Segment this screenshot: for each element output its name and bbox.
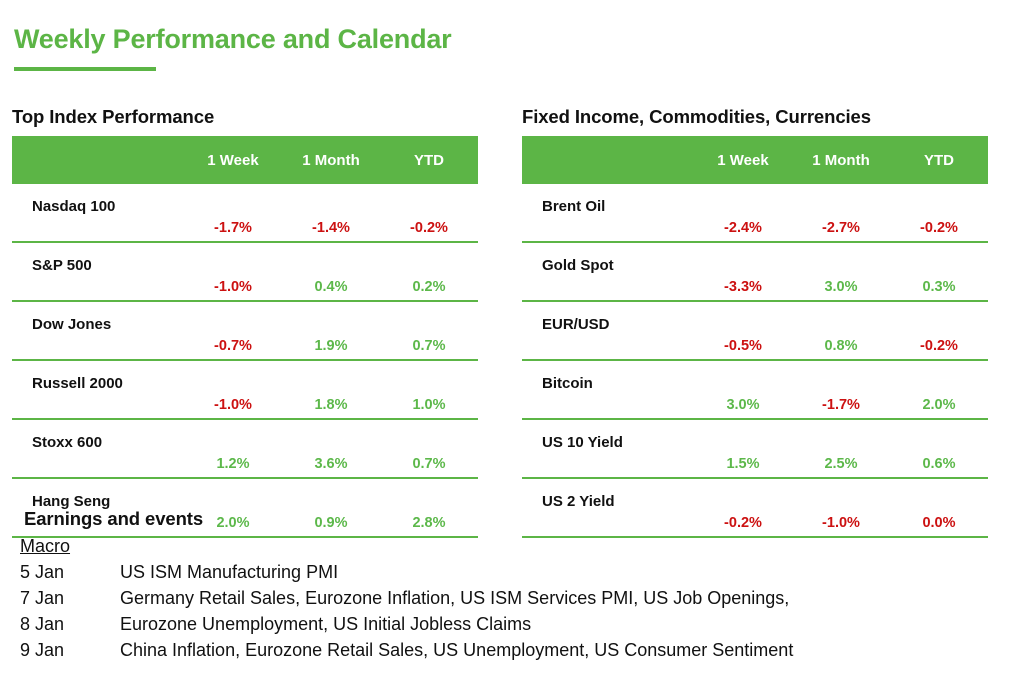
event-text: US ISM Manufacturing PMI (120, 559, 1000, 585)
table-row: Dow Jones -0.7% 1.9% 0.7% (12, 301, 478, 360)
cell-1-week: -3.3% (694, 242, 792, 301)
cell-1-month: 0.8% (792, 301, 890, 360)
title-underline-rule (14, 67, 156, 71)
cell-ytd: 1.0% (380, 360, 478, 419)
column-header-name (12, 136, 184, 184)
row-label: Russell 2000 (12, 360, 184, 419)
cell-1-month: -1.7% (792, 360, 890, 419)
cell-ytd: 0.7% (380, 419, 478, 478)
row-label: Nasdaq 100 (12, 184, 184, 242)
row-label: US 10 Yield (522, 419, 694, 478)
row-label: Bitcoin (522, 360, 694, 419)
event-text: China Inflation, Eurozone Retail Sales, … (120, 637, 1000, 663)
events-title: Earnings and events (24, 508, 1000, 530)
cell-ytd: -0.2% (890, 184, 988, 242)
event-row: 9 Jan China Inflation, Eurozone Retail S… (20, 637, 1000, 663)
event-row: 7 Jan Germany Retail Sales, Eurozone Inf… (20, 585, 1000, 611)
table-row: Brent Oil -2.4% -2.7% -0.2% (522, 184, 988, 242)
row-label: Stoxx 600 (12, 419, 184, 478)
cell-ytd: 0.7% (380, 301, 478, 360)
column-header-1-month: 1 Month (282, 136, 380, 184)
column-header-1-month: 1 Month (792, 136, 890, 184)
table-header-row: 1 Week 1 Month YTD (12, 136, 478, 184)
cell-ytd: 0.2% (380, 242, 478, 301)
cell-1-month: 2.5% (792, 419, 890, 478)
cell-1-week: -1.7% (184, 184, 282, 242)
row-label: EUR/USD (522, 301, 694, 360)
column-header-ytd: YTD (380, 136, 478, 184)
table-body: Nasdaq 100 -1.7% -1.4% -0.2% S&P 500 -1.… (12, 184, 478, 537)
event-date: 9 Jan (20, 637, 120, 663)
column-header-1-week: 1 Week (694, 136, 792, 184)
cell-ytd: 0.3% (890, 242, 988, 301)
cell-1-month: 1.9% (282, 301, 380, 360)
column-header-name (522, 136, 694, 184)
event-text: Eurozone Unemployment, US Initial Jobles… (120, 611, 1000, 637)
page-title: Weekly Performance and Calendar (14, 24, 451, 55)
cell-ytd: -0.2% (890, 301, 988, 360)
row-label: Brent Oil (522, 184, 694, 242)
panel-title: Top Index Performance (12, 106, 478, 128)
cell-1-week: 3.0% (694, 360, 792, 419)
table-row: Russell 2000 -1.0% 1.8% 1.0% (12, 360, 478, 419)
cell-1-week: -1.0% (184, 242, 282, 301)
cell-1-month: 0.4% (282, 242, 380, 301)
table-row: Stoxx 600 1.2% 3.6% 0.7% (12, 419, 478, 478)
row-label: Gold Spot (522, 242, 694, 301)
table-row: Gold Spot -3.3% 3.0% 0.3% (522, 242, 988, 301)
table-fixed-income-commodities-currencies: 1 Week 1 Month YTD Brent Oil -2.4% -2.7%… (522, 136, 988, 538)
cell-1-week: -1.0% (184, 360, 282, 419)
cell-1-week: -0.5% (694, 301, 792, 360)
event-date: 7 Jan (20, 585, 120, 611)
cell-1-month: -2.7% (792, 184, 890, 242)
row-label: S&P 500 (12, 242, 184, 301)
event-text: Germany Retail Sales, Eurozone Inflation… (120, 585, 1000, 611)
events-section-label-macro: Macro (20, 536, 70, 557)
panel-title: Fixed Income, Commodities, Currencies (522, 106, 988, 128)
table-header-row: 1 Week 1 Month YTD (522, 136, 988, 184)
event-date: 5 Jan (20, 559, 120, 585)
table-top-index-performance: 1 Week 1 Month YTD Nasdaq 100 -1.7% -1.4… (12, 136, 478, 538)
cell-1-month: 1.8% (282, 360, 380, 419)
table-row: Nasdaq 100 -1.7% -1.4% -0.2% (12, 184, 478, 242)
column-header-ytd: YTD (890, 136, 988, 184)
cell-1-month: -1.4% (282, 184, 380, 242)
cell-1-week: -2.4% (694, 184, 792, 242)
earnings-and-events-section: Earnings and events Macro 5 Jan US ISM M… (20, 508, 1000, 663)
cell-ytd: 0.6% (890, 419, 988, 478)
cell-1-month: 3.0% (792, 242, 890, 301)
table-row: US 10 Yield 1.5% 2.5% 0.6% (522, 419, 988, 478)
event-row: 8 Jan Eurozone Unemployment, US Initial … (20, 611, 1000, 637)
row-label: Dow Jones (12, 301, 184, 360)
cell-ytd: 2.0% (890, 360, 988, 419)
cell-1-month: 3.6% (282, 419, 380, 478)
event-date: 8 Jan (20, 611, 120, 637)
events-subsection-wrap: Macro (20, 536, 1000, 559)
cell-1-week: 1.2% (184, 419, 282, 478)
table-row: EUR/USD -0.5% 0.8% -0.2% (522, 301, 988, 360)
panel-top-index-performance: Top Index Performance 1 Week 1 Month YTD… (12, 106, 478, 538)
panel-fixed-income-commodities-currencies: Fixed Income, Commodities, Currencies 1 … (522, 106, 988, 538)
table-row: Bitcoin 3.0% -1.7% 2.0% (522, 360, 988, 419)
cell-1-week: 1.5% (694, 419, 792, 478)
event-row: 5 Jan US ISM Manufacturing PMI (20, 559, 1000, 585)
cell-ytd: -0.2% (380, 184, 478, 242)
column-header-1-week: 1 Week (184, 136, 282, 184)
cell-1-week: -0.7% (184, 301, 282, 360)
table-body: Brent Oil -2.4% -2.7% -0.2% Gold Spot -3… (522, 184, 988, 537)
table-row: S&P 500 -1.0% 0.4% 0.2% (12, 242, 478, 301)
